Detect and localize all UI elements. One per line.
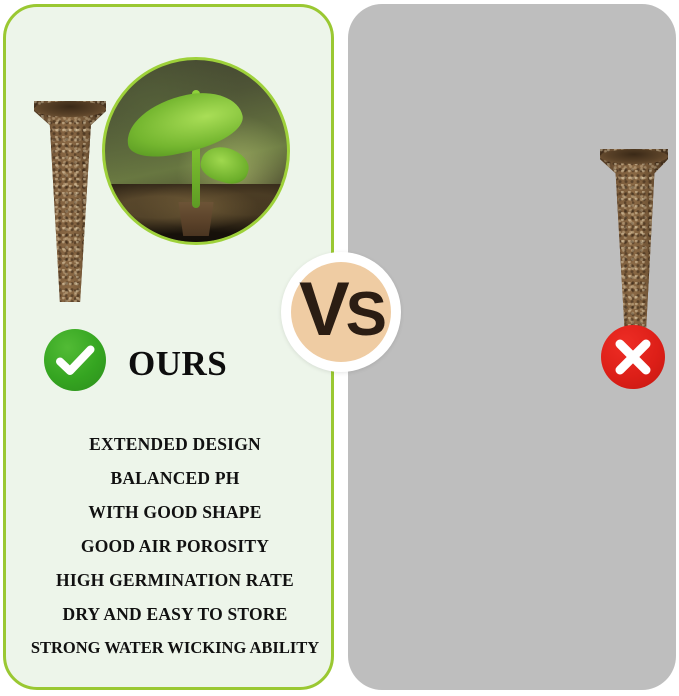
ours-feature-list: EXTENDED DESIGN BALANCED PH WITH GOOD SH…: [14, 427, 334, 665]
ours-feature-item: WITH GOOD SHAPE: [88, 495, 261, 529]
ours-feature-item: STRONG WATER WICKING ABILITY: [31, 631, 319, 665]
ours-feature-item: EXTENDED DESIGN: [89, 427, 261, 461]
ours-photo-leaf-small: [197, 142, 253, 188]
comparison-infographic: OURS EXTENDED DESIGN BALANCED PH WITH GO…: [0, 0, 679, 696]
check-circle-icon: [44, 329, 106, 391]
ours-feature-item: HIGH GERMINATION RATE: [56, 563, 294, 597]
vs-letter-s: S: [346, 280, 383, 349]
vs-badge-circle: VS: [291, 262, 391, 362]
vs-badge: VS: [281, 252, 401, 372]
ours-feature-item: DRY AND EASY TO STORE: [63, 597, 288, 631]
ours-feature-item: BALANCED PH: [110, 461, 239, 495]
vs-badge-label: VS: [299, 272, 383, 348]
ours-cone-rim: [34, 101, 106, 117]
vs-letter-v: V: [299, 267, 346, 352]
x-circle-icon: [601, 325, 665, 389]
ours-feature-item: GOOD AIR POROSITY: [81, 529, 269, 563]
ours-heading: OURS: [128, 344, 227, 384]
others-cone-rim: [600, 149, 668, 164]
ours-photo: [102, 57, 290, 245]
